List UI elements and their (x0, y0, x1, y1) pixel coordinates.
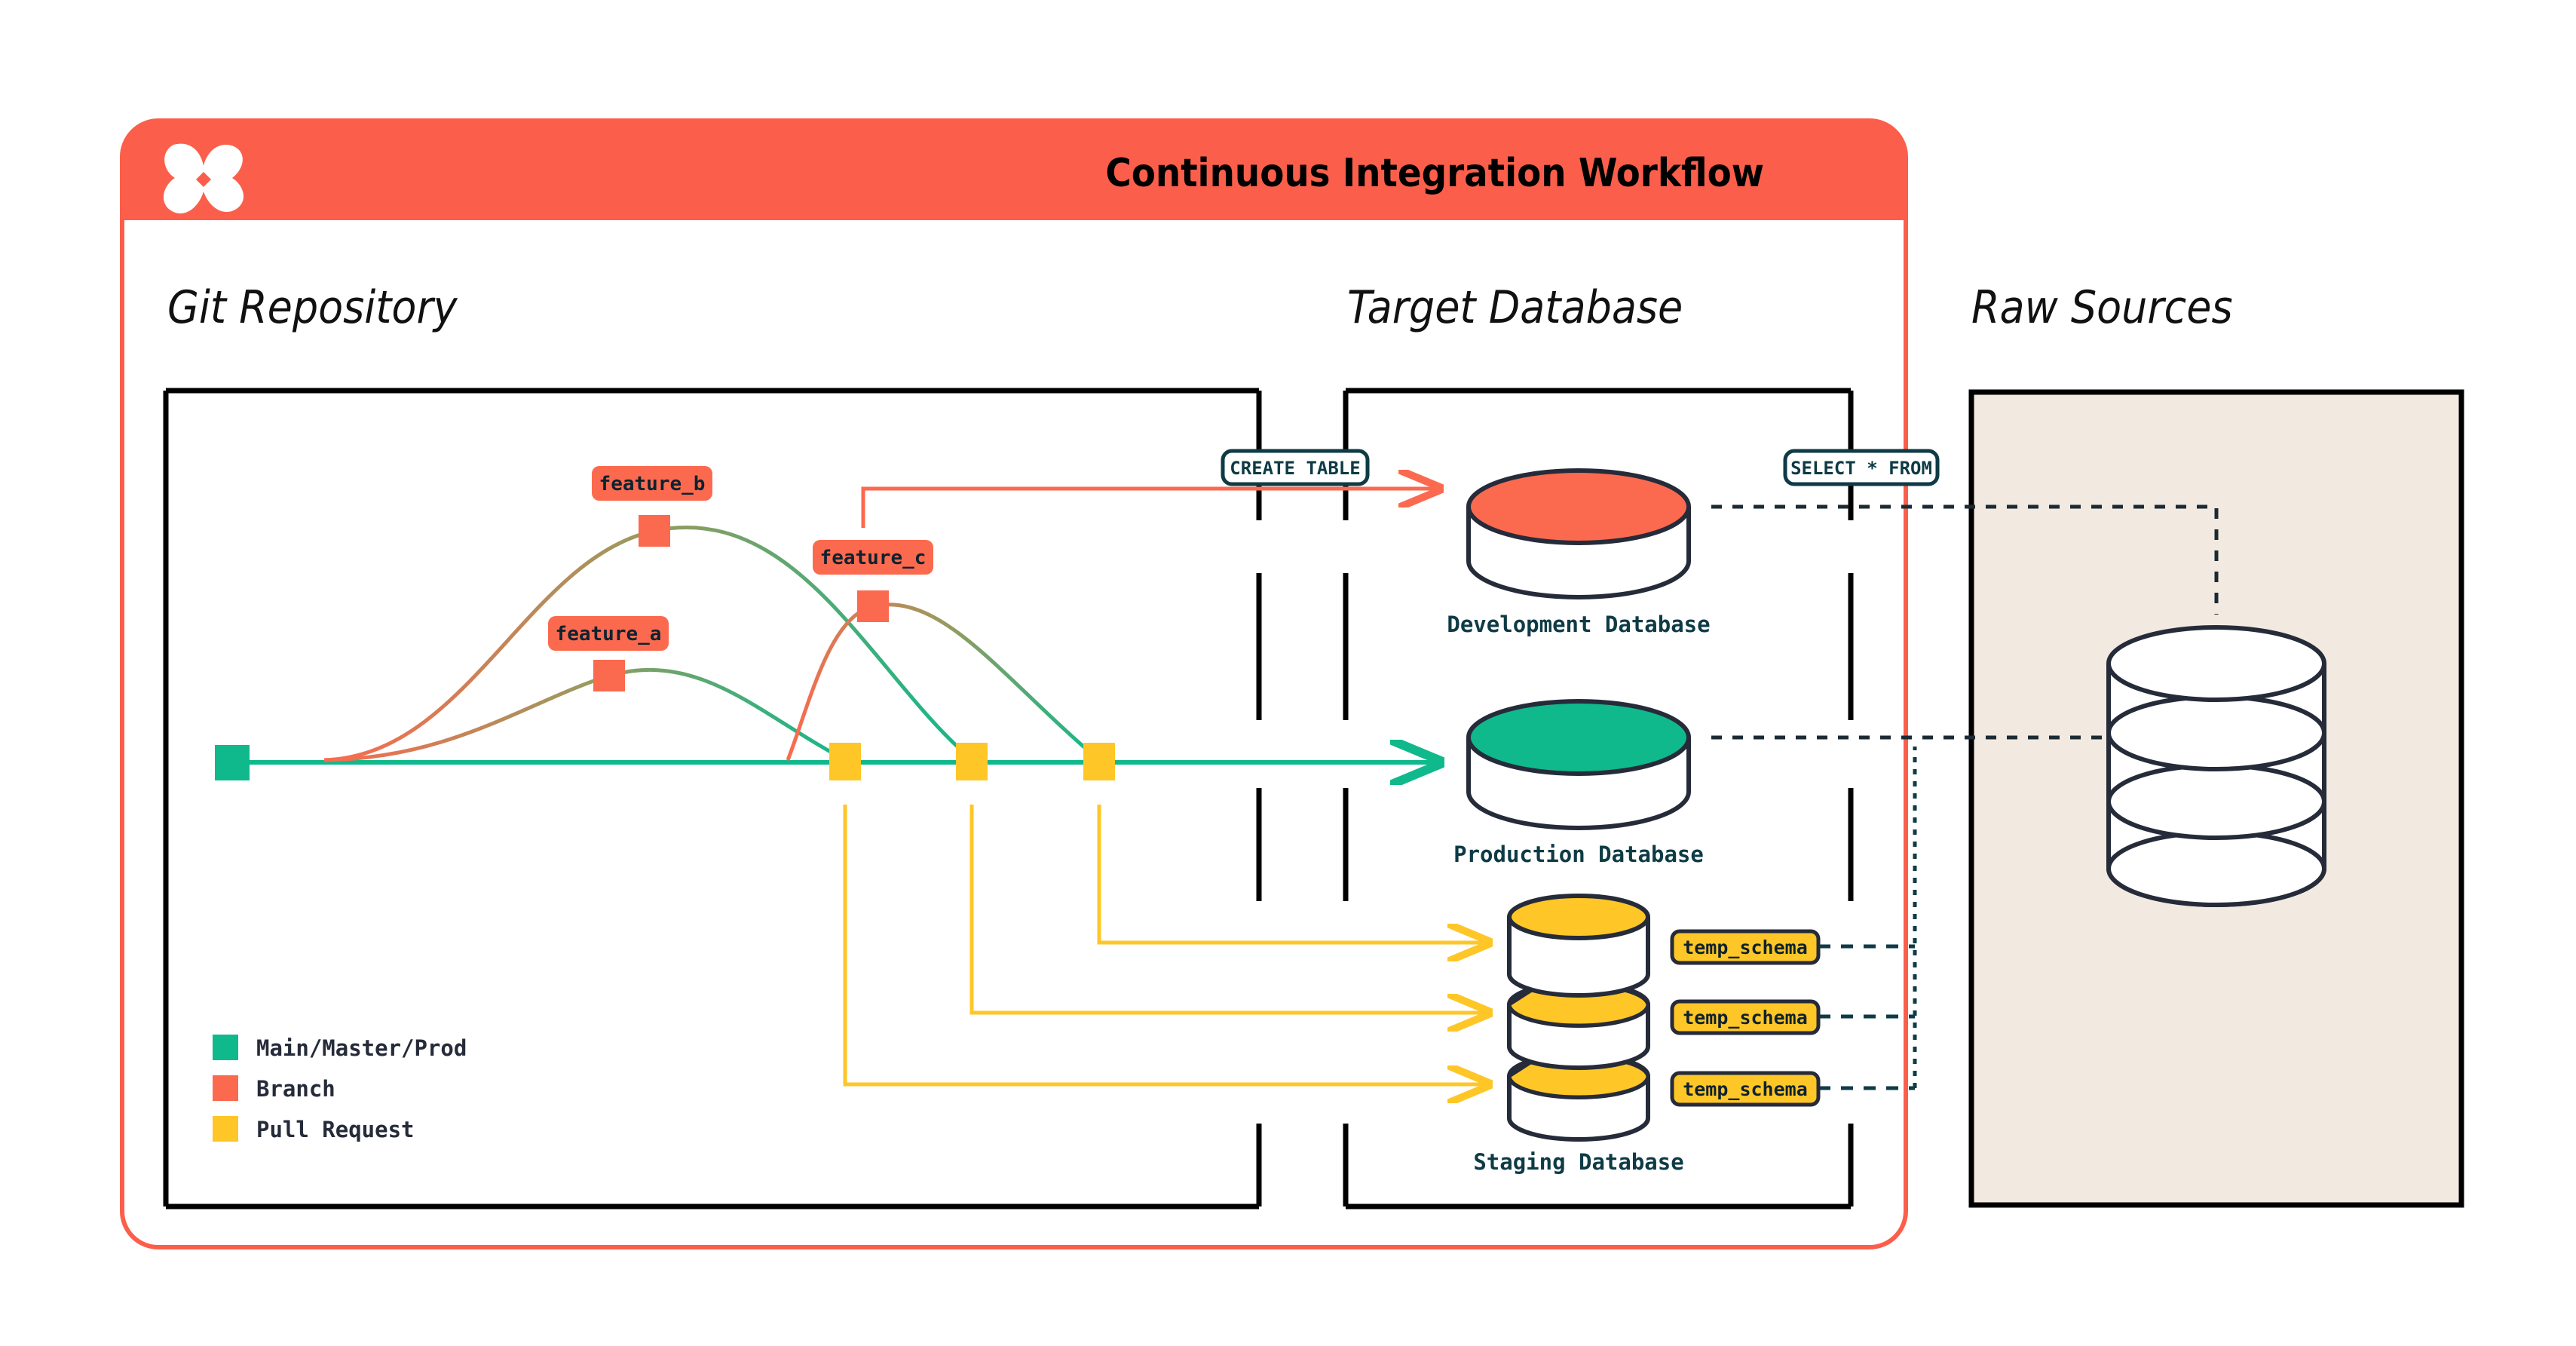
legend-swatch-branch (213, 1075, 238, 1101)
workflow-diagram: Continuous Integration Workflow Git Repo… (0, 0, 2576, 1346)
commit-node-feature-c[interactable] (857, 590, 889, 622)
database-development[interactable]: Development Database (1447, 471, 1710, 637)
section-heading-target: Target Database (1347, 281, 1683, 334)
branch-label-feature-b[interactable]: feature_b (592, 466, 712, 501)
schema-tag-3-text: temp_schema (1683, 1078, 1808, 1100)
commit-node-feature-a[interactable] (593, 660, 625, 691)
schema-tag-2-text: temp_schema (1683, 1007, 1808, 1029)
commit-node-main[interactable] (215, 745, 250, 780)
schema-tag-3[interactable]: temp_schema (1672, 1073, 1818, 1105)
database-staging-label: Staging Database (1473, 1149, 1683, 1175)
section-heading-raw: Raw Sources (1971, 281, 2233, 334)
commit-node-pr-1[interactable] (829, 743, 861, 780)
sql-tag-create-table[interactable]: CREATE TABLE (1223, 451, 1368, 484)
branch-label-feature-a[interactable]: feature_a (548, 616, 669, 651)
branch-label-feature-c-text: feature_c (820, 547, 927, 569)
schema-tag-1[interactable]: temp_schema (1672, 931, 1818, 963)
database-development-label: Development Database (1447, 612, 1710, 637)
commit-node-pr-2[interactable] (956, 743, 988, 780)
legend-swatch-pr (213, 1116, 238, 1142)
commit-node-pr-3[interactable] (1083, 743, 1115, 780)
legend-label-pr: Pull Request (256, 1117, 415, 1142)
database-production[interactable]: Production Database (1453, 701, 1704, 867)
page-title: Continuous Integration Workflow (1105, 151, 1764, 196)
schema-tag-1-text: temp_schema (1683, 937, 1808, 958)
sql-tag-create-table-text: CREATE TABLE (1230, 458, 1360, 479)
commit-node-feature-b[interactable] (639, 515, 670, 547)
branch-label-feature-c[interactable]: feature_c (813, 540, 933, 575)
legend-swatch-main (213, 1035, 238, 1060)
sql-tag-select-star-from-text: SELECT * FROM (1790, 458, 1932, 479)
section-heading-git: Git Repository (167, 281, 458, 334)
sql-tag-select-star-from[interactable]: SELECT * FROM (1785, 451, 1937, 484)
raw-sources-cylinder[interactable] (2109, 627, 2324, 905)
legend-label-branch: Branch (256, 1076, 335, 1102)
branch-label-feature-a-text: feature_a (556, 623, 662, 645)
legend-label-main: Main/Master/Prod (256, 1035, 467, 1061)
database-production-label: Production Database (1453, 842, 1704, 867)
schema-tag-2[interactable]: temp_schema (1672, 1001, 1818, 1033)
branch-label-feature-b-text: feature_b (599, 473, 706, 495)
diagram-canvas: Continuous Integration Workflow Git Repo… (0, 0, 2576, 1346)
